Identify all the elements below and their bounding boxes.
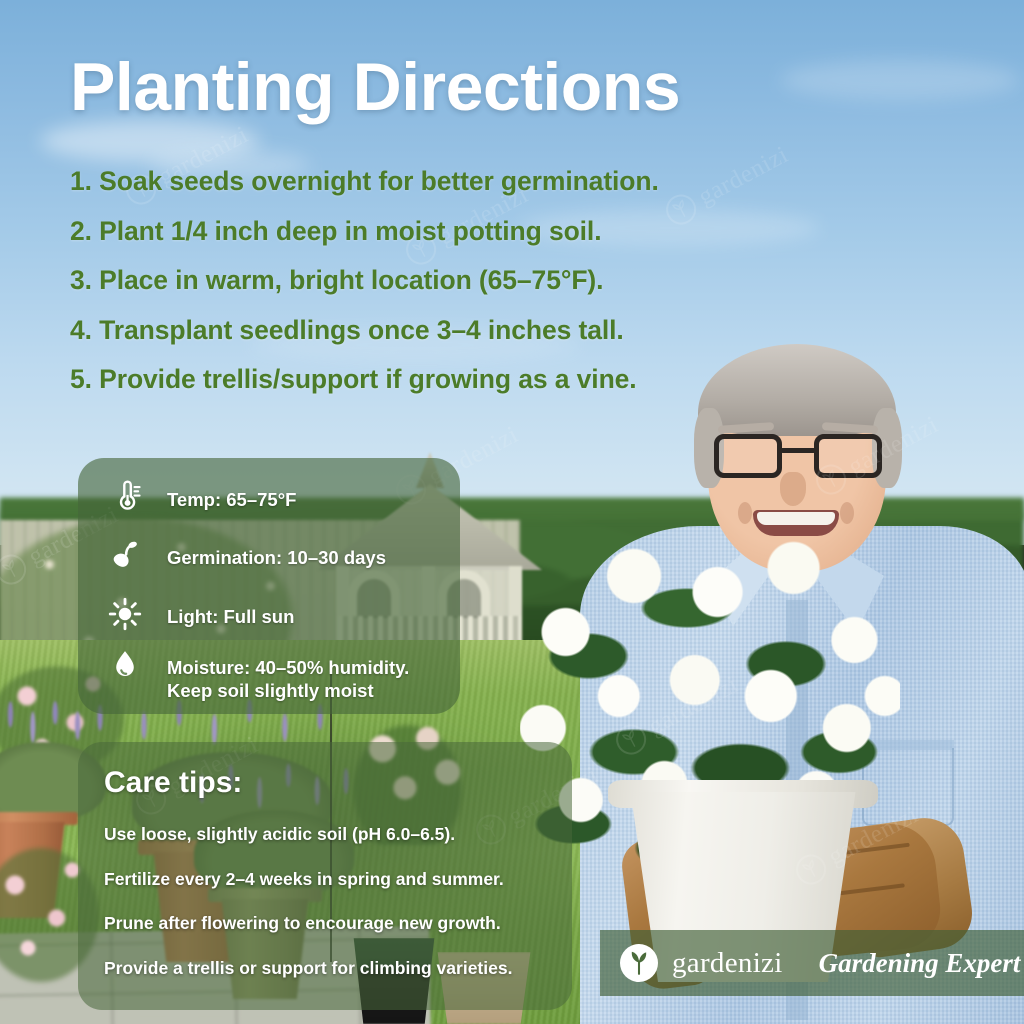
water-drop-icon xyxy=(104,648,146,682)
condition-label: Moisture: 40–50% humidity. Keep soil sli… xyxy=(167,648,409,702)
care-tip: Prune after flowering to encourage new g… xyxy=(104,915,556,933)
brand-name: gardenizi xyxy=(672,947,783,980)
care-tips-panel: Care tips: Use loose, slightly acidic so… xyxy=(78,742,572,1010)
brand-inner: gardenizi Gardening Expert xyxy=(600,930,1024,996)
sprout-seed-icon xyxy=(104,538,146,572)
cloud xyxy=(780,60,1020,100)
glasses-lens xyxy=(714,434,782,478)
care-tips-heading: Care tips: xyxy=(104,766,242,800)
thermometer-icon xyxy=(104,480,146,514)
glasses-lens xyxy=(814,434,882,478)
sun-icon xyxy=(104,597,146,631)
leaf-in-circle-icon xyxy=(620,944,658,982)
condition-label: Germination: 10–30 days xyxy=(167,538,386,570)
page-title: Planting Directions xyxy=(70,48,680,126)
care-tip: Provide a trellis or support for climbin… xyxy=(104,960,556,978)
glasses-bridge xyxy=(780,448,816,453)
care-tip: Fertilize every 2–4 weeks in spring and … xyxy=(104,871,556,889)
planting-step: 3. Place in warm, bright location (65–75… xyxy=(70,267,760,294)
planting-step: 1. Soak seeds overnight for better germi… xyxy=(70,168,760,195)
growing-conditions-panel: Temp: 65–75°F Germination: 10–30 days xyxy=(78,458,460,714)
condition-row-germination: Germination: 10–30 days xyxy=(104,538,386,572)
planting-step: 4. Transplant seedlings once 3–4 inches … xyxy=(70,317,760,344)
planting-step: 2. Plant 1/4 inch deep in moist potting … xyxy=(70,218,760,245)
planting-step: 5. Provide trellis/support if growing as… xyxy=(70,366,760,393)
infographic-canvas: gardenizi gardenizi gardenizi gardenizi … xyxy=(0,0,1024,1024)
condition-row-light: Light: Full sun xyxy=(104,597,294,631)
brand-band: gardenizi Gardening Expert xyxy=(600,930,1024,996)
nose xyxy=(780,472,806,506)
brand-role: Gardening Expert xyxy=(819,948,1021,979)
planting-steps-list: 1. Soak seeds overnight for better germi… xyxy=(70,168,760,416)
condition-row-temp: Temp: 65–75°F xyxy=(104,480,296,514)
condition-label: Light: Full sun xyxy=(167,597,294,629)
condition-row-moisture: Moisture: 40–50% humidity. Keep soil sli… xyxy=(104,648,409,702)
condition-label: Temp: 65–75°F xyxy=(167,480,296,512)
care-tip: Use loose, slightly acidic soil (pH 6.0–… xyxy=(104,826,556,844)
care-tips-list: Use loose, slightly acidic soil (pH 6.0–… xyxy=(104,826,556,1004)
